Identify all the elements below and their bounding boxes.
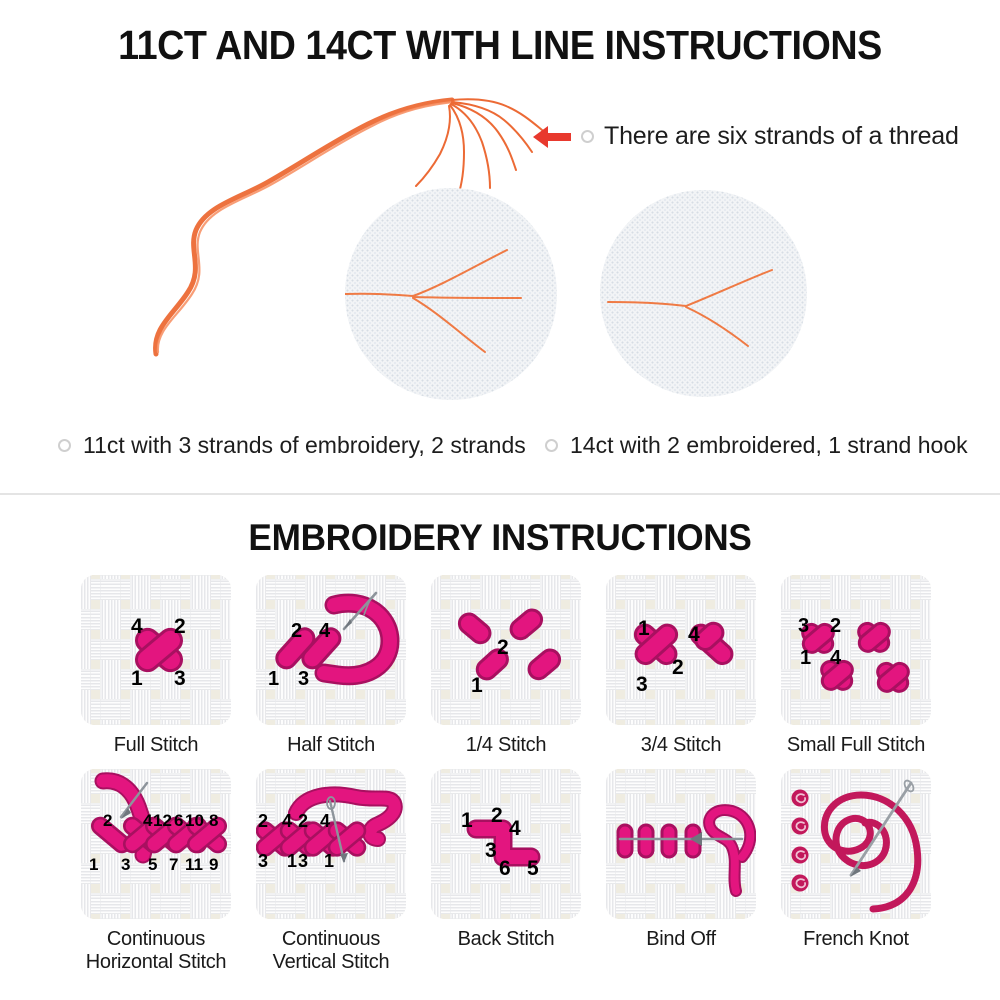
number-2: 2 — [491, 804, 503, 827]
number-2: 2 — [103, 811, 112, 830]
stitch-row-2: 2 4 12 6 10 8 1 3 5 7 11 — [76, 769, 936, 974]
number-10: 10 — [185, 811, 204, 830]
number-2b: 2 — [298, 811, 308, 831]
number-2: 2 — [497, 636, 509, 659]
back-stitch-diagram: 1 2 4 3 6 5 — [431, 769, 581, 919]
number-1: 1 — [461, 809, 473, 832]
continuous-horizontal-stitch-diagram: 2 4 12 6 10 8 1 3 5 7 11 — [81, 769, 231, 919]
number-1: 1 — [638, 617, 650, 640]
caption-14ct: 14ct with 2 embroidered, 1 strand hook — [545, 432, 968, 459]
number-2: 2 — [672, 656, 684, 679]
number-4: 4 — [131, 615, 143, 638]
number-3: 3 — [121, 855, 130, 874]
stitch-label-full-stitch: Full Stitch — [114, 734, 199, 757]
stitch-cell-back-stitch: 1 2 4 3 6 5 Back Stitch — [426, 769, 586, 974]
number-4: 4 — [688, 623, 700, 646]
number-4: 4 — [830, 647, 842, 669]
number-1: 1 — [800, 647, 811, 669]
stitch-cell-french-knot: French Knot — [776, 769, 936, 974]
number-1a: 1 — [287, 851, 297, 871]
stitch-tile-continuous-horizontal-stitch: 2 4 12 6 10 8 1 3 5 7 11 — [81, 769, 231, 919]
number-1b: 1 — [324, 851, 334, 871]
stitch-label-three-quarter-stitch: 3/4 Stitch — [641, 734, 721, 757]
number-4: 4 — [143, 811, 153, 830]
number-9: 9 — [209, 855, 218, 874]
stitch-cell-continuous-horizontal-stitch: 2 4 12 6 10 8 1 3 5 7 11 — [76, 769, 236, 974]
six-strands-note-text: There are six strands of a thread — [604, 122, 959, 151]
section-line-instructions: 11CT AND 14CT WITH LINE INSTRUCTIONS — [0, 0, 1000, 488]
number-1: 1 — [131, 667, 143, 690]
number-4b: 4 — [320, 811, 330, 831]
stitch-label-small-full-stitch: Small Full Stitch — [787, 734, 925, 757]
stitch-cell-quarter-stitch: 2 1 1/4 Stitch — [426, 575, 586, 757]
three-quarter-stitch-diagram: 1 4 2 3 — [606, 575, 756, 725]
stitch-cell-half-stitch: 2 4 1 3 Half Stitch — [251, 575, 411, 757]
number-12: 12 — [153, 811, 172, 830]
circle-bullet-icon — [58, 439, 71, 452]
caption-11ct-text: 11ct with 3 strands of embroidery, 2 str… — [83, 432, 526, 459]
stitch-label-french-knot: French Knot — [803, 928, 909, 951]
page-title-embroidery: EMBROIDERY INSTRUCTIONS — [25, 517, 975, 559]
section-embroidery-instructions: EMBROIDERY INSTRUCTIONS 4 — [0, 495, 1000, 1000]
number-3: 3 — [636, 673, 648, 696]
number-2: 2 — [291, 620, 302, 642]
stitch-grid: 4 2 1 3 Full Stitch — [76, 575, 936, 974]
caption-14ct-text: 14ct with 2 embroidered, 1 strand hook — [570, 432, 968, 459]
strand-split-11ct — [345, 188, 557, 400]
stitch-tile-continuous-vertical-stitch: 2 4 2 4 3 1 3 1 — [256, 769, 406, 919]
number-3: 3 — [298, 668, 309, 690]
stitch-cell-full-stitch: 4 2 1 3 Full Stitch — [76, 575, 236, 757]
number-3b: 3 — [298, 851, 308, 871]
number-3: 3 — [174, 667, 186, 690]
number-4: 4 — [509, 817, 521, 840]
number-3: 3 — [798, 615, 809, 637]
number-5: 5 — [527, 857, 539, 880]
quarter-stitch-diagram: 2 1 — [431, 575, 581, 725]
stitch-tile-bind-off — [606, 769, 756, 919]
small-full-stitch-diagram: 3 2 1 4 — [781, 575, 931, 725]
number-6: 6 — [499, 857, 511, 880]
number-2: 2 — [830, 615, 841, 637]
instruction-sheet: 11CT AND 14CT WITH LINE INSTRUCTIONS — [0, 0, 1000, 1000]
circle-bullet-icon — [545, 439, 558, 452]
stitch-row-1: 4 2 1 3 Full Stitch — [76, 575, 936, 757]
number-3a: 3 — [258, 851, 268, 871]
stitch-label-continuous-vertical-stitch: Continuous Vertical Stitch — [273, 928, 390, 974]
stitch-label-half-stitch: Half Stitch — [287, 734, 375, 757]
number-1: 1 — [268, 668, 279, 690]
stitch-label-bind-off: Bind Off — [646, 928, 716, 951]
stitch-tile-full-stitch: 4 2 1 3 — [81, 575, 231, 725]
page-title-line-instructions: 11CT AND 14CT WITH LINE INSTRUCTIONS — [40, 22, 960, 69]
continuous-vertical-stitch-diagram: 2 4 2 4 3 1 3 1 — [256, 769, 406, 919]
stitch-cell-continuous-vertical-stitch: 2 4 2 4 3 1 3 1 Continuous Vertical Sti — [251, 769, 411, 974]
circle-bullet-icon — [581, 130, 594, 143]
stitch-label-back-stitch: Back Stitch — [458, 928, 555, 951]
number-1: 1 — [471, 674, 483, 697]
number-7: 7 — [169, 855, 178, 874]
knot-dots — [792, 790, 809, 892]
stitch-label-quarter-stitch: 1/4 Stitch — [466, 734, 546, 757]
stitch-tile-back-stitch: 1 2 4 3 6 5 — [431, 769, 581, 919]
strand-split-14ct — [600, 190, 807, 397]
stitch-tile-three-quarter-stitch: 1 4 2 3 — [606, 575, 756, 725]
bind-off-diagram — [606, 769, 756, 919]
stitch-tile-small-full-stitch: 3 2 1 4 — [781, 575, 931, 725]
stitch-tile-half-stitch: 2 4 1 3 — [256, 575, 406, 725]
red-left-arrow-icon — [533, 126, 571, 148]
number-2: 2 — [174, 615, 186, 638]
caption-11ct: 11ct with 3 strands of embroidery, 2 str… — [58, 432, 526, 459]
stitch-tile-quarter-stitch: 2 1 — [431, 575, 581, 725]
number-11: 11 — [185, 855, 203, 874]
stitch-tile-french-knot — [781, 769, 931, 919]
stitch-cell-three-quarter-stitch: 1 4 2 3 3/4 Stitch — [601, 575, 761, 757]
number-4: 4 — [319, 620, 331, 642]
number-2a: 2 — [258, 811, 268, 831]
stitch-cell-small-full-stitch: 3 2 1 4 Small Full Stitch — [776, 575, 936, 757]
stitch-label-continuous-horizontal-stitch: Continuous Horizontal Stitch — [86, 928, 227, 974]
french-knot-diagram — [781, 769, 931, 919]
number-4a: 4 — [282, 811, 292, 831]
half-stitch-diagram: 2 4 1 3 — [256, 575, 406, 725]
number-5: 5 — [148, 855, 157, 874]
stitch-cell-bind-off: Bind Off — [601, 769, 761, 974]
full-stitch-diagram: 4 2 1 3 — [81, 575, 231, 725]
number-8: 8 — [209, 811, 218, 830]
six-strands-note: There are six strands of a thread — [533, 122, 959, 151]
number-3: 3 — [485, 839, 497, 862]
number-1: 1 — [89, 855, 98, 874]
number-6: 6 — [174, 811, 183, 830]
